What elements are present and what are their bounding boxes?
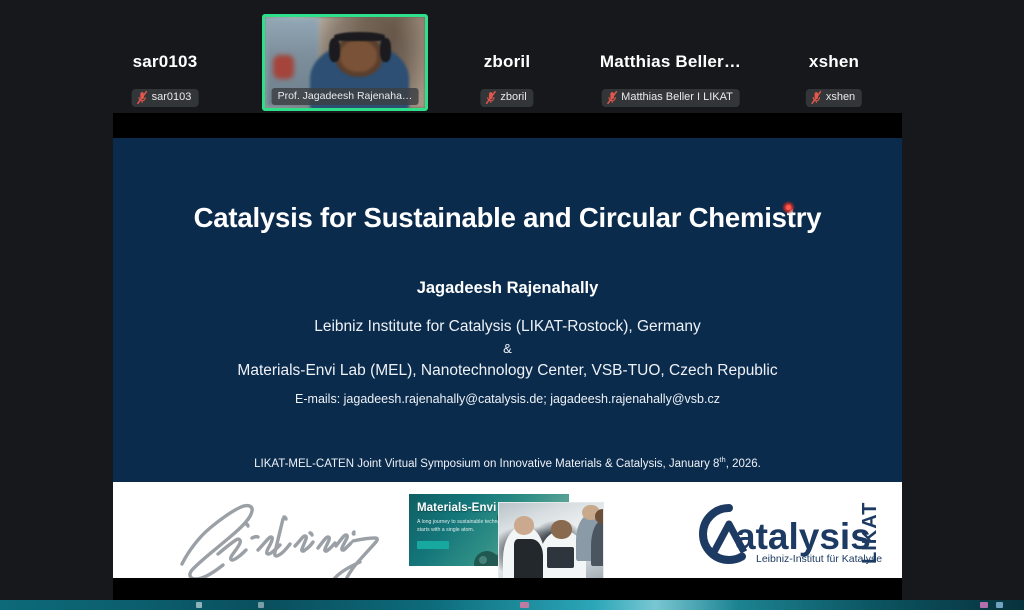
os-taskbar[interactable] bbox=[0, 600, 1024, 610]
participant-chip-xshen: xshen bbox=[806, 89, 862, 107]
taskbar-icon-1[interactable] bbox=[196, 602, 202, 608]
stage-bottom-letterbox bbox=[113, 578, 902, 600]
participant-chip-label: zboril bbox=[500, 91, 526, 104]
catalysis-wordmark: atalysis bbox=[735, 516, 871, 557]
participant-tile-xshen[interactable]: xshen xshen bbox=[760, 0, 908, 113]
participant-chip-matthias-beller: Matthias Beller I LIKAT bbox=[601, 89, 740, 107]
slide-event-suffix: , 2026. bbox=[726, 458, 761, 470]
taskbar-icon-2[interactable] bbox=[258, 602, 264, 608]
slide-emails: E-mails: jagadeesh.rajenahally@catalysis… bbox=[113, 392, 902, 406]
taskbar-icon-5[interactable] bbox=[996, 602, 1003, 608]
zoom-meeting-window: sar0103 sar0103 bbox=[0, 0, 1024, 610]
leibniz-signature-logo bbox=[158, 488, 408, 588]
slide-event-line: LIKAT-MEL-CATEN Joint Virtual Symposium … bbox=[113, 455, 902, 470]
participant-chip-label: Matthias Beller I LIKAT bbox=[621, 91, 733, 104]
taskbar-icon-4[interactable] bbox=[980, 602, 988, 608]
shared-screen-stage[interactable]: Catalysis for Sustainable and Circular C… bbox=[113, 113, 902, 591]
materials-envi-lab-logo: Materials-Envi Lab A long journey to sus… bbox=[409, 490, 604, 583]
slide-text-area: Catalysis for Sustainable and Circular C… bbox=[113, 138, 902, 482]
likat-side-text: LIKAT bbox=[859, 502, 881, 564]
laser-pointer-dot bbox=[782, 201, 795, 214]
mel-lab-photo bbox=[498, 502, 604, 583]
participant-chip-label: Prof. Jagadeesh Rajenaha… bbox=[278, 90, 413, 103]
participant-name-xshen: xshen bbox=[760, 52, 908, 72]
participant-name-sar0103: sar0103 bbox=[70, 52, 260, 72]
participant-chip-jagadeesh: Prof. Jagadeesh Rajenaha… bbox=[272, 88, 419, 105]
mel-cta-button bbox=[417, 541, 449, 549]
participant-chip-zboril: zboril bbox=[480, 89, 533, 107]
slide-event-prefix: LIKAT-MEL-CATEN Joint Virtual Symposium … bbox=[254, 458, 719, 470]
taskbar-icon-3[interactable] bbox=[520, 602, 529, 608]
presentation-slide: Catalysis for Sustainable and Circular C… bbox=[113, 138, 902, 591]
participant-filmstrip: sar0103 sar0103 bbox=[0, 0, 1024, 113]
participant-tile-matthias-beller[interactable]: Matthias Beller… Matthias Beller I LIKAT bbox=[568, 0, 773, 113]
participant-name-zboril: zboril bbox=[432, 52, 582, 72]
mic-muted-icon bbox=[137, 91, 148, 104]
participant-chip-label: xshen bbox=[826, 91, 855, 104]
participant-name-matthias-beller: Matthias Beller… bbox=[568, 52, 773, 72]
participant-tile-active-speaker-video[interactable]: Prof. Jagadeesh Rajenaha… bbox=[262, 14, 428, 111]
participant-tile-sar0103[interactable]: sar0103 sar0103 bbox=[70, 0, 260, 113]
participant-chip-sar0103: sar0103 bbox=[132, 89, 199, 107]
slide-author: Jagadeesh Rajenahally bbox=[113, 279, 902, 298]
slide-logo-band: Materials-Envi Lab A long journey to sus… bbox=[113, 482, 902, 591]
slide-conjunction: & bbox=[113, 341, 902, 356]
participant-tile-zboril[interactable]: zboril zboril bbox=[432, 0, 582, 113]
participant-chip-label: sar0103 bbox=[152, 91, 192, 104]
likat-catalysis-logo: atalysis Leibniz-Institut für Katalyse L… bbox=[673, 494, 888, 578]
mic-muted-icon bbox=[606, 91, 617, 104]
mic-muted-icon bbox=[811, 91, 822, 104]
slide-affiliation-1: Leibniz Institute for Catalysis (LIKAT-R… bbox=[113, 318, 902, 336]
mic-muted-icon bbox=[485, 91, 496, 104]
slide-affiliation-2: Materials-Envi Lab (MEL), Nanotechnology… bbox=[113, 362, 902, 380]
